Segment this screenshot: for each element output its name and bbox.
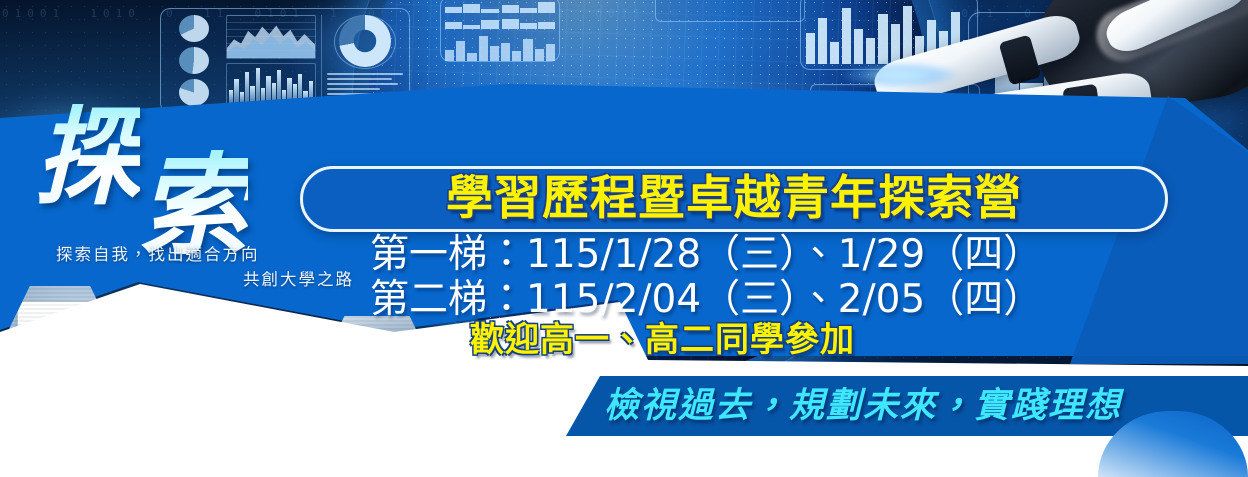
target-icon	[502, 1, 556, 14]
event-title-pill: 學習歷程暨卓越青年探索營	[300, 166, 1168, 232]
page-title: 學習歷程暨卓越青年探索營	[446, 174, 1022, 224]
fingertip-glow	[840, 62, 960, 88]
welcome-message: 歡迎高一、高二同學參加	[470, 321, 1170, 359]
subtitle-line-2: 共創大學之路	[56, 268, 356, 293]
event-promo-banner: 01001 1010 0 11 0101 1 001 10 0110 1 001…	[0, 0, 1248, 477]
mini-stats-hud	[440, 0, 560, 62]
donut-chart-icon	[327, 15, 403, 69]
pie-chart-icon	[179, 15, 209, 42]
session-dates: 第一梯：115/1/28（三）、1/29（四） 第二梯：115/2/04（三）、…	[370, 232, 1170, 322]
subtitle-line-1: 探索自我，找出適合方向	[56, 243, 356, 268]
pie-chart-icon	[179, 79, 209, 106]
pie-icon	[502, 17, 556, 30]
pie-chart-icon	[179, 47, 209, 74]
gauge-icon	[445, 1, 499, 14]
chart-column	[226, 15, 316, 106]
mini-icon-grid	[445, 1, 555, 29]
slogan-text: 檢視過去，規劃未來，實踐理想	[604, 386, 1244, 426]
donut-chart	[339, 15, 391, 67]
bar-icon	[445, 17, 499, 30]
session-date-line-2: 第二梯：115/2/04（三）、2/05（四）	[370, 277, 1170, 322]
bar-chart-strip	[445, 33, 555, 61]
top-hud-frame	[655, 0, 805, 22]
subtitle-block: 探索自我，找出適合方向 共創大學之路	[56, 243, 356, 293]
pie-chart-column	[167, 15, 221, 106]
area-chart-icon	[226, 15, 316, 59]
session-date-line-1: 第一梯：115/1/28（三）、1/29（四）	[370, 232, 1170, 277]
